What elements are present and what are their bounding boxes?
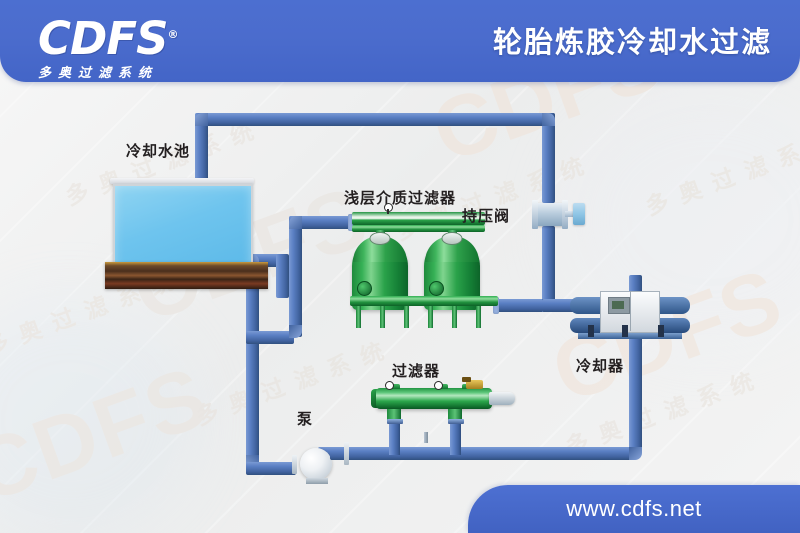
pump-base-plate [306, 478, 328, 484]
pipe-elbow-top-left [195, 113, 208, 126]
tank-side-port-1 [357, 281, 372, 296]
page-header: CDFS® 多奥过滤系统 轮胎炼胶冷却水过滤 [0, 0, 800, 82]
cooler-support [588, 325, 594, 337]
filter-drain-stub [424, 432, 428, 443]
logo-text: CDFS [38, 12, 168, 65]
pipe-suction-drop [246, 262, 259, 467]
watermark-brand: CDFS [0, 347, 221, 523]
label-pump: 泵 [297, 408, 313, 429]
tank-leg [404, 306, 409, 328]
label-filter: 过滤器 [392, 360, 440, 381]
website-url: www.cdfs.net [566, 496, 702, 522]
tank-manhole-1 [370, 232, 391, 245]
tank-leg [356, 306, 361, 328]
filter-downleg-pipe [450, 421, 461, 455]
pipe-elbow-tank-inlet [289, 216, 302, 229]
cooling-water-pool [113, 184, 253, 272]
pipe-pump-suction [246, 462, 296, 475]
logo-subtitle: 多奥过滤系统 [38, 62, 258, 81]
diagram-canvas: CDFS CDFS CDFS CDFS 多奥过滤系统 多奥过滤系统 多奥过滤系统… [0, 0, 800, 533]
tank-leg [452, 306, 457, 328]
watermark-brand-cn: 多奥过滤系统 [640, 118, 800, 222]
label-pressure-sustaining-valve: 持压阀 [462, 205, 510, 226]
filter-valve-handle [462, 377, 471, 382]
cooler-unit [570, 291, 690, 345]
tank-outlet-manifold [350, 296, 498, 306]
pipe-top-header [195, 113, 555, 126]
pipe-pool-drain-riser [276, 254, 289, 298]
hmi-display [612, 301, 624, 309]
filter-end-cap-right [489, 392, 515, 405]
pump-discharge-flange [344, 442, 349, 465]
valve-actuator-cap [573, 203, 585, 225]
pipe-to-tank-header [289, 216, 302, 337]
watermark-brand-cn: 多奥过滤系统 [190, 328, 399, 432]
cooler-support [622, 325, 628, 337]
logo-wordmark: CDFS® [38, 12, 258, 61]
page-title: 轮胎炼胶冷却水过滤 [493, 19, 772, 61]
label-cooler: 冷却器 [576, 355, 624, 376]
horizontal-filter-shell [376, 388, 492, 409]
pipe-right-riser-upper [542, 113, 555, 203]
cabinet-door-split [630, 291, 631, 331]
tank-manhole-2 [442, 232, 463, 245]
pipe-pump-discharge-branch [246, 331, 294, 344]
pump-volute [300, 448, 332, 480]
label-shallow-media-filter: 浅层介质过滤器 [344, 187, 456, 208]
tank-leg [476, 306, 481, 328]
tank-leg [428, 306, 433, 328]
pipe-pump-discharge [330, 447, 344, 460]
pipe-elbow-bottom-right [629, 447, 642, 460]
tank-side-port-2 [429, 281, 444, 296]
tank-inlet-manifold-lower [352, 225, 485, 232]
registered-trademark-icon: ® [168, 28, 178, 41]
pump-suction-flange [292, 455, 297, 474]
pressure-sustaining-valve-body [535, 203, 565, 226]
glow-left [0, 300, 200, 533]
filter-gauge-icon [385, 381, 394, 390]
label-cooling-pool: 冷却水池 [126, 140, 190, 161]
filter-leg-flange [387, 419, 403, 424]
valve-flange-left [532, 200, 538, 229]
pipe-bottom-main [318, 447, 636, 460]
gauge-stem [387, 209, 389, 214]
pipe-elbow-top-right [542, 113, 555, 126]
cdfs-logo: CDFS® 多奥过滤系统 [38, 12, 258, 74]
filter-leg-flange [448, 419, 464, 424]
cooler-hmi-screen [608, 297, 630, 314]
page-footer: www.cdfs.net [468, 485, 800, 533]
tank-leg [380, 306, 385, 328]
cooler-support [658, 325, 664, 337]
filter-downleg-pipe [389, 421, 400, 455]
ground-soil-layer [105, 262, 268, 289]
filter-gauge-icon [434, 381, 443, 390]
